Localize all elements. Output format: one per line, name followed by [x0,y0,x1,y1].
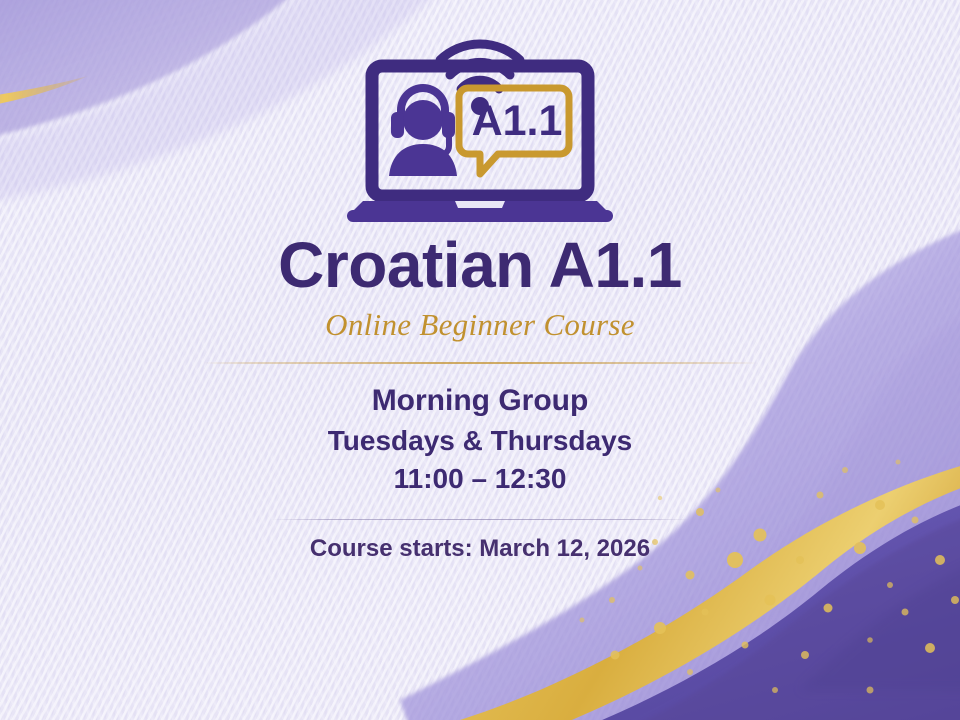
headset-person-icon [389,84,457,176]
secondary-divider [270,519,690,520]
page-title: Croatian A1.1 [278,233,682,297]
schedule-days: Tuesdays & Thursdays [328,424,632,458]
start-date: Course starts: March 12, 2026 [310,535,650,564]
schedule-time: 11:00 – 12:30 [394,462,567,496]
group-name: Morning Group [372,384,589,419]
page-subtitle: Online Beginner Course [325,309,635,340]
laptop-online-class-icon: A1.1 [345,18,615,223]
poster-content: A1.1 Croatian A1.1 Online Beginner Cours… [0,0,960,720]
gold-divider [203,362,758,364]
bubble-label: A1.1 [472,97,563,145]
a1-speech-bubble: A1.1 [459,88,569,174]
logo-container: A1.1 [345,18,615,223]
laptop-base [347,201,613,222]
course-poster: A1.1 Croatian A1.1 Online Beginner Cours… [0,0,960,720]
